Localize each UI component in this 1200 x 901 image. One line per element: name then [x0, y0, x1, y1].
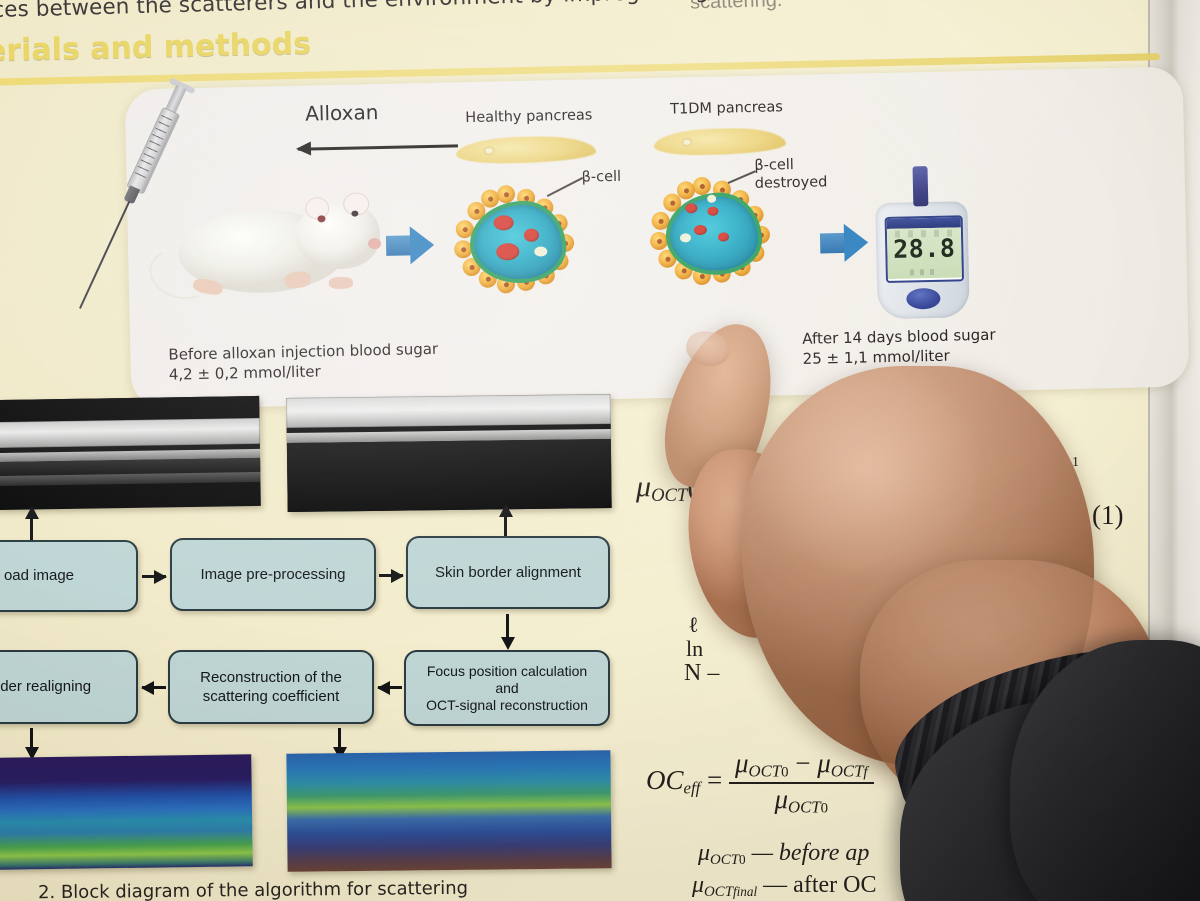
num-minus: −: [795, 748, 810, 778]
num-mu-b-sub: OCT: [831, 762, 864, 781]
formula-partial-line-1: ℓ: [688, 612, 699, 638]
oc-eff-fraction: μOCT0 − μOCTf μOCT0: [729, 748, 874, 817]
lab-rat-photo: [155, 194, 388, 317]
label-beta-cell-destroyed-line1: β-cell: [754, 157, 794, 174]
alloxan-arrow: [298, 144, 458, 150]
figure-caption: 2. Block diagram of the algorithm for sc…: [38, 878, 468, 901]
flow-box-focus-position[interactable]: Focus position calculation and OCT-signa…: [404, 650, 610, 726]
photo-of-poster: ces between the scatterers and the envir…: [0, 0, 1200, 901]
oct-bscan-grayscale-right: [286, 394, 611, 512]
test-strip: [912, 166, 928, 206]
formula-1-superscript: 1: [1072, 455, 1079, 471]
num-mu-a-sub: OCT: [749, 762, 782, 781]
oct-bscan-grayscale-left: [0, 396, 261, 510]
formula-1-sub: OCT: [651, 485, 687, 506]
oct-bscan-color-left: [0, 754, 253, 870]
glucometer-reading: 28.8: [887, 233, 962, 264]
legend1-sub: OCT: [710, 852, 739, 868]
glucometer-button[interactable]: [906, 288, 940, 310]
num-mu-a-sub0: 0: [781, 764, 788, 780]
legend2-subf: final: [733, 884, 757, 899]
glucometer-screen: 28.8: [885, 215, 964, 283]
den-mu-sub: OCT: [788, 797, 821, 816]
after-14days-text: After 14 days blood sugar 25 ± 1,1 mmol/…: [802, 325, 996, 369]
lcd-bottom-indicators: [910, 269, 940, 276]
flow-arrow-reconstruction-to-realigning: [142, 686, 166, 689]
label-healthy-pancreas: Healthy pancreas: [465, 107, 592, 126]
flow-arrow-realigning-down: [30, 728, 33, 750]
oc-eff-numerator: μOCT0 − μOCTf: [729, 748, 874, 782]
glucometer: 28.8: [875, 201, 970, 319]
flow-box-load-image[interactable]: oad image: [0, 540, 138, 612]
formula-legend-line-2: μOCTfinal — after OC: [692, 872, 876, 901]
num-mu-b: μ: [817, 748, 831, 778]
formula-partial-line-3: N –: [684, 660, 719, 687]
label-t1dm-pancreas: T1DM pancreas: [670, 99, 783, 117]
label-alloxan: Alloxan: [305, 100, 379, 126]
scheme-panel: Alloxan Healthy pancreas: [125, 66, 1190, 409]
formula-1: μOCT(: [636, 470, 697, 507]
oc-eff-denominator: μOCT0: [729, 782, 874, 818]
flow-arrow-focus-to-reconstruction: [378, 686, 402, 689]
formula-partial-line-2: ln: [686, 636, 703, 662]
flow-box-skin-border-alignment[interactable]: Skin border alignment: [406, 536, 610, 609]
healthy-islet-illustration: [449, 184, 579, 295]
after-14days-line1: After 14 days blood sugar: [802, 325, 996, 349]
legend2-text: — after OC: [763, 872, 876, 898]
section-heading: erials and methods: [0, 26, 311, 68]
formula-1-number: (1): [1092, 500, 1123, 531]
flow-arrow-preprocessing-to-alignment: [379, 574, 403, 577]
after-14days-line2: 25 ± 1,1 mmol/liter: [802, 345, 996, 369]
legend1-sub0: 0: [739, 852, 746, 867]
den-mu-sub0: 0: [821, 800, 828, 816]
oc-eff-equals: =: [707, 765, 722, 795]
formula-oc-eff: OCeff = μOCT0 − μOCTf μOCT0: [646, 748, 874, 817]
legend2-sub: OCT: [704, 884, 733, 900]
legend1-mu: μ: [698, 840, 710, 866]
glucometer-lcd: 28.8: [887, 227, 962, 279]
oct-bscan-color-right: [286, 750, 611, 871]
healthy-pancreas-shape: [456, 135, 597, 164]
flow-arrow-reconstruction-down: [338, 728, 341, 750]
formula-legend-line-1: μOCT0 — before ap: [698, 840, 869, 869]
t1dm-islet-illustration: [645, 175, 775, 286]
flow-box-image-pre-processing[interactable]: Image pre-processing: [170, 538, 376, 611]
legend2-mu: μ: [692, 872, 704, 898]
flow-arrow-alignment-to-focus: [506, 614, 509, 640]
flow-arrow-load-to-preprocessing: [142, 575, 166, 578]
oc-eff-lhs-sub: eff: [684, 779, 701, 798]
label-beta-cell-destroyed-line2: destroyed: [755, 174, 828, 192]
formula-1-paren: (: [687, 470, 697, 503]
legend1-text: — before ap: [752, 840, 870, 866]
formula-1-mu: μ: [636, 470, 651, 503]
label-beta-cell: β-cell: [581, 169, 621, 186]
flow-box-reconstruction-scattering[interactable]: Reconstruction of the scattering coeffic…: [168, 650, 374, 724]
before-injection-text: Before alloxan injection blood sugar 4,2…: [168, 339, 439, 385]
num-mu-a: μ: [735, 748, 749, 778]
flow-box-border-realigning[interactable]: order realigning: [0, 650, 138, 724]
den-mu: μ: [774, 784, 788, 814]
num-mu-b-sub-f: f: [863, 764, 867, 780]
t1dm-pancreas-shape: [654, 127, 787, 156]
flow-arrow-up-left: [30, 516, 33, 542]
oc-eff-lhs: OC: [646, 765, 684, 795]
